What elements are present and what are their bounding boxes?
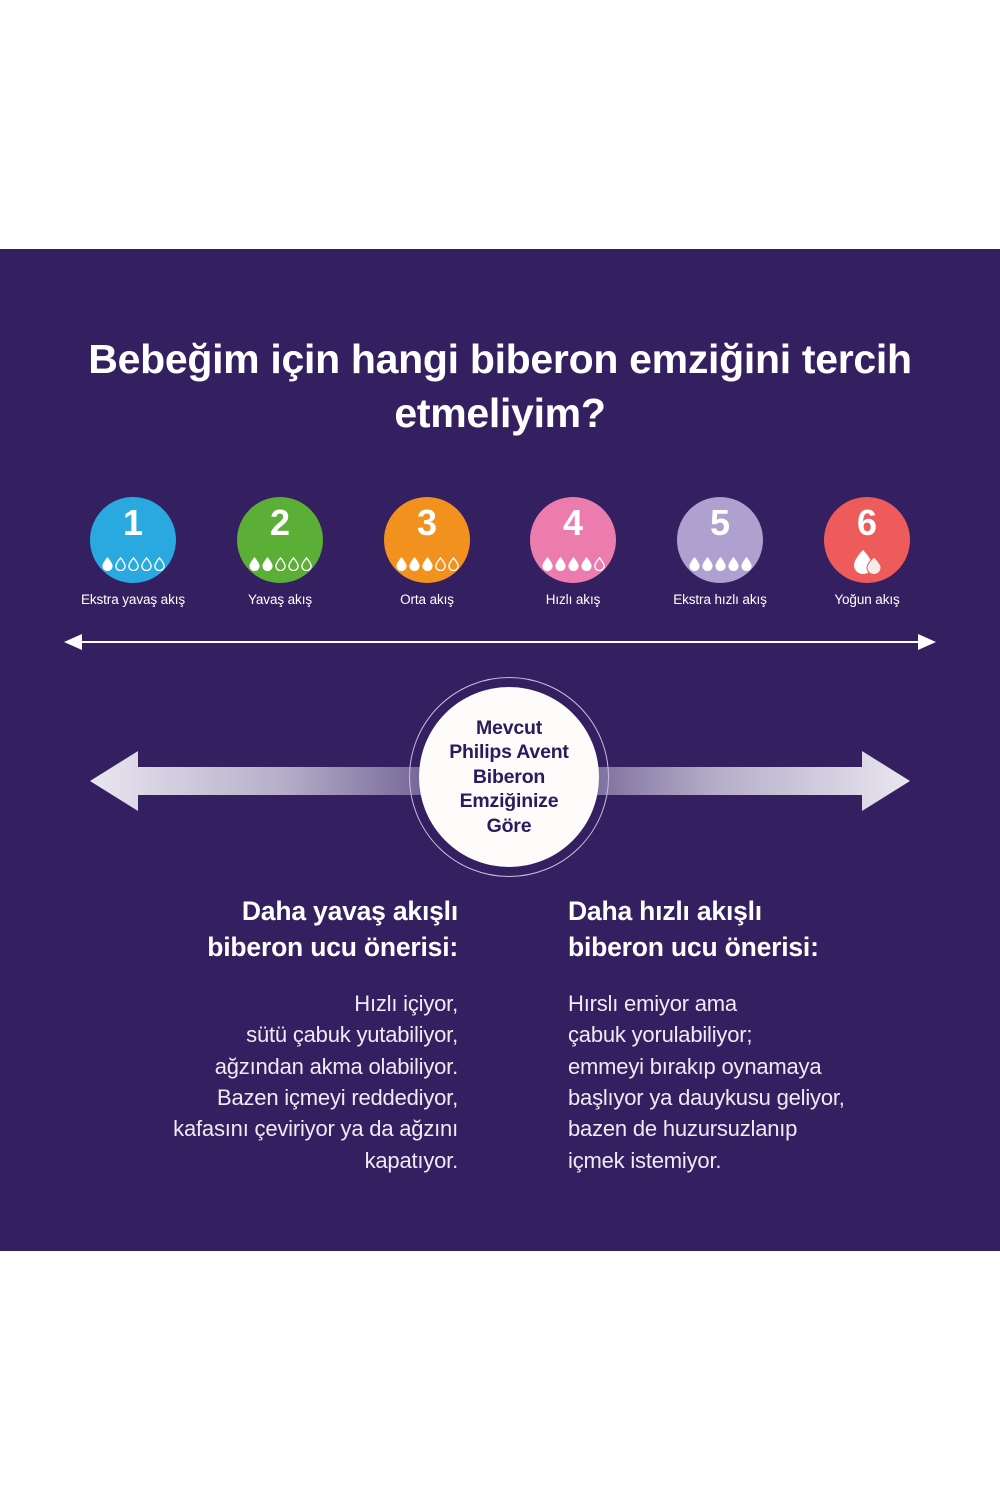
flow-level-5[interactable]: 5Ekstra hızlı akış: [647, 497, 793, 607]
infographic-root: Bebeğim için hangi biberon emziğini terc…: [0, 0, 1000, 1500]
droplet-icon: [715, 557, 726, 571]
slower-flow-body-line: Hızlı içiyor,: [68, 988, 458, 1019]
faster-flow-body: Hırslı emiyor amaçabuk yorulabiliyor;emm…: [568, 988, 958, 1177]
flow-level-3[interactable]: 3Orta akış: [354, 497, 500, 607]
slower-flow-body-line: kapatıyor.: [68, 1145, 458, 1176]
droplet-icon: [396, 557, 407, 571]
droplet-icon: [288, 557, 299, 571]
flow-level-bubble-5[interactable]: 5: [677, 497, 763, 583]
flow-level-number: 5: [677, 505, 763, 541]
slower-heading-pre: Daha: [242, 896, 313, 926]
flow-level-label: Hızlı akış: [500, 592, 646, 607]
flow-level-number: 4: [530, 505, 616, 541]
flow-level-bubble-3[interactable]: 3: [384, 497, 470, 583]
droplet-icon: [115, 557, 126, 571]
faster-heading-highlight: hızlı: [639, 896, 690, 926]
thick-feed-icon: [824, 549, 910, 575]
flow-level-bubble-1[interactable]: 1: [90, 497, 176, 583]
droplet-icon: [702, 557, 713, 571]
droplet-icon: [154, 557, 165, 571]
droplet-icon: [301, 557, 312, 571]
slower-heading-post: akışlı: [386, 896, 458, 926]
droplet-icon: [409, 557, 420, 571]
droplet-icon: [542, 557, 553, 571]
faster-flow-arrow: [560, 751, 910, 811]
flow-level-label: Yavaş akış: [207, 592, 353, 607]
flow-level-number: 6: [824, 505, 910, 541]
current-nipple-badge-line: Emziğinize: [449, 789, 568, 813]
current-nipple-badge-line: Göre: [449, 814, 568, 838]
flow-scale-double-arrow: [62, 632, 938, 652]
droplet-icon: [422, 557, 433, 571]
slower-flow-body-line: sütü çabuk yutabiliyor,: [68, 1019, 458, 1050]
slower-flow-body-line: kafasını çeviriyor ya da ağzını: [68, 1113, 458, 1144]
flow-level-bubble-4[interactable]: 4: [530, 497, 616, 583]
current-nipple-badge-inner: MevcutPhilips AventBiberonEmziğinizeGöre: [419, 687, 599, 867]
slower-flow-recommendation: Daha yavaş akışlı biberon ucu önerisi: H…: [68, 893, 458, 1176]
current-nipple-badge-line: Biberon: [449, 765, 568, 789]
droplet-icon: [141, 557, 152, 571]
faster-flow-body-line: başlıyor ya dauykusu geliyor,: [568, 1082, 958, 1113]
faster-heading-line2: biberon ucu önerisi:: [568, 932, 819, 962]
slower-heading-highlight: yavaş: [313, 896, 386, 926]
slower-flow-body-line: ağzından akma olabiliyor.: [68, 1051, 458, 1082]
droplet-meter: [384, 555, 470, 571]
droplet-icon: [555, 557, 566, 571]
droplet-icon: [689, 557, 700, 571]
droplet-meter: [90, 555, 176, 571]
faster-flow-recommendation: Daha hızlı akışlı biberon ucu önerisi: H…: [568, 893, 958, 1176]
current-nipple-badge-text: MevcutPhilips AventBiberonEmziğinizeGöre: [443, 716, 574, 838]
flow-level-label: Yoğun akış: [794, 592, 940, 607]
droplet-icon: [128, 557, 139, 571]
faster-flow-body-line: içmek istemiyor.: [568, 1145, 958, 1176]
flow-level-number: 1: [90, 505, 176, 541]
faster-flow-heading: Daha hızlı akışlı biberon ucu önerisi:: [568, 893, 958, 966]
faster-flow-body-line: Hırslı emiyor ama: [568, 988, 958, 1019]
droplet-icon: [741, 557, 752, 571]
flow-level-number: 3: [384, 505, 470, 541]
flow-level-4[interactable]: 4Hızlı akış: [500, 497, 646, 607]
flow-level-bubble-2[interactable]: 2: [237, 497, 323, 583]
slower-flow-body-line: Bazen içmeyi reddediyor,: [68, 1082, 458, 1113]
droplet-meter: [530, 555, 616, 571]
flow-level-number: 2: [237, 505, 323, 541]
droplet-icon: [448, 557, 459, 571]
slower-flow-body: Hızlı içiyor,sütü çabuk yutabiliyor,ağzı…: [68, 988, 458, 1177]
slower-heading-line2: biberon ucu önerisi:: [207, 932, 458, 962]
page-title: Bebeğim için hangi biberon emziğini terc…: [60, 332, 940, 440]
droplet-icon: [249, 557, 260, 571]
slower-flow-arrow: [90, 751, 440, 811]
slower-flow-heading: Daha yavaş akışlı biberon ucu önerisi:: [68, 893, 458, 966]
faster-flow-body-line: bazen de huzursuzlanıp: [568, 1113, 958, 1144]
flow-level-2[interactable]: 2Yavaş akış: [207, 497, 353, 607]
droplet-icon: [435, 557, 446, 571]
faster-flow-body-line: çabuk yorulabiliyor;: [568, 1019, 958, 1050]
flow-level-label: Orta akış: [354, 592, 500, 607]
flow-scale: 1Ekstra yavaş akış2Yavaş akış3Orta akış4…: [60, 497, 940, 652]
droplet-icon: [581, 557, 592, 571]
faster-flow-body-line: emmeyi bırakıp oynamaya: [568, 1051, 958, 1082]
faster-heading-pre: Daha: [568, 896, 639, 926]
droplet-icon: [275, 557, 286, 571]
flow-level-1[interactable]: 1Ekstra yavaş akış: [60, 497, 206, 607]
droplet-icon: [568, 557, 579, 571]
flow-level-bubble-6[interactable]: 6: [824, 497, 910, 583]
flow-level-label: Ekstra yavaş akış: [60, 592, 206, 607]
droplet-icon: [728, 557, 739, 571]
droplet-icon: [262, 557, 273, 571]
droplet-meter: [237, 555, 323, 571]
droplet-icon: [102, 557, 113, 571]
flow-level-label: Ekstra hızlı akış: [647, 592, 793, 607]
current-nipple-badge-line: Philips Avent: [449, 740, 568, 764]
droplet-icon: [594, 557, 605, 571]
faster-heading-post: akışlı: [690, 896, 762, 926]
current-nipple-badge-line: Mevcut: [449, 716, 568, 740]
current-nipple-badge: MevcutPhilips AventBiberonEmziğinizeGöre: [409, 677, 609, 877]
droplet-meter: [677, 555, 763, 571]
flow-level-6[interactable]: 6Yoğun akış: [794, 497, 940, 607]
